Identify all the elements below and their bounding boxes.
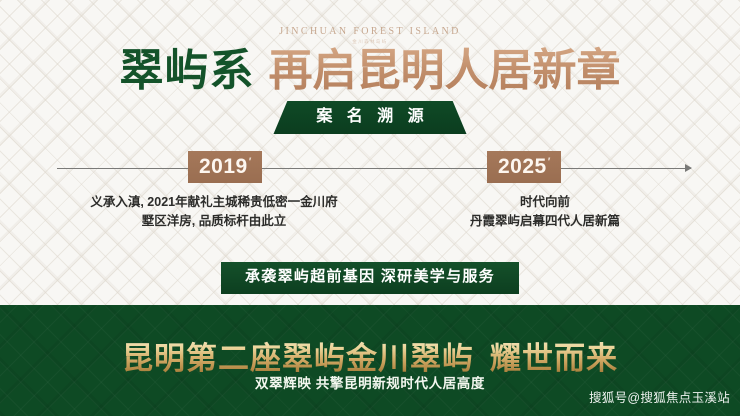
bottom-gold-part-a: 昆明第二座翠屿金川翠屿 — [122, 341, 474, 376]
milestone-2019-line1: 义承入滇, 2021年献礼主城稀贵低密一金川府 — [57, 193, 371, 212]
brand-mark-text: JINCHUAN FOREST ISLAND — [0, 26, 740, 37]
mid-banner: 承袭翠屿超前基因 深研美学与服务 — [221, 262, 519, 294]
timeline-year-chip-2019: 2019′ — [188, 151, 262, 183]
section-tag: 案 名 溯 源 — [273, 101, 466, 134]
section-tag-wrap: 案 名 溯 源 — [0, 101, 740, 134]
poster-stage: JINCHUAN FOREST ISLAND 金川森林岛屿 翠屿系再启昆明人居新… — [0, 0, 740, 416]
timeline-arrow-icon — [685, 164, 692, 172]
milestone-copy-2025: 时代向前 丹霞翠屿启幕四代人居新篇 — [400, 193, 690, 232]
milestone-2019-line2: 墅区洋房, 品质标杆由此立 — [57, 212, 371, 231]
timeline-year-chip-2025: 2025′ — [487, 151, 561, 183]
milestone-2025-line2: 丹霞翠屿启幕四代人居新篇 — [400, 212, 690, 231]
year-label-2025: 2025 — [498, 155, 547, 178]
year-label-2019: 2019 — [199, 155, 248, 178]
page-title-green: 翠屿系 — [120, 46, 255, 95]
watermark: 搜狐号@搜狐焦点玉溪站 — [589, 387, 730, 406]
milestone-2025-line1: 时代向前 — [400, 193, 690, 212]
bottom-gold-part-b: 耀世而来 — [490, 341, 618, 376]
year-tick-2019: ′ — [249, 156, 252, 168]
mid-banner-wrap: 承袭翠屿超前基因 深研美学与服务 — [0, 262, 740, 294]
year-tick-2025: ′ — [548, 156, 551, 168]
page-title: 翠屿系再启昆明人居新章 — [0, 49, 740, 93]
bottom-panel: 昆明第二座翠屿金川翠屿耀世而来 双翠辉映 共擎昆明新规时代人居高度 搜狐号@搜狐… — [0, 305, 740, 416]
timeline: 2019′ 2025′ — [57, 168, 691, 170]
milestone-copy-2019: 义承入滇, 2021年献礼主城稀贵低密一金川府 墅区洋房, 品质标杆由此立 — [57, 193, 371, 232]
brand-mark-subtext: 金川森林岛屿 — [0, 39, 740, 45]
page-title-copper: 再启昆明人居新章 — [269, 46, 621, 95]
timeline-line — [57, 168, 691, 169]
brand-mark: JINCHUAN FOREST ISLAND 金川森林岛屿 — [0, 26, 740, 45]
